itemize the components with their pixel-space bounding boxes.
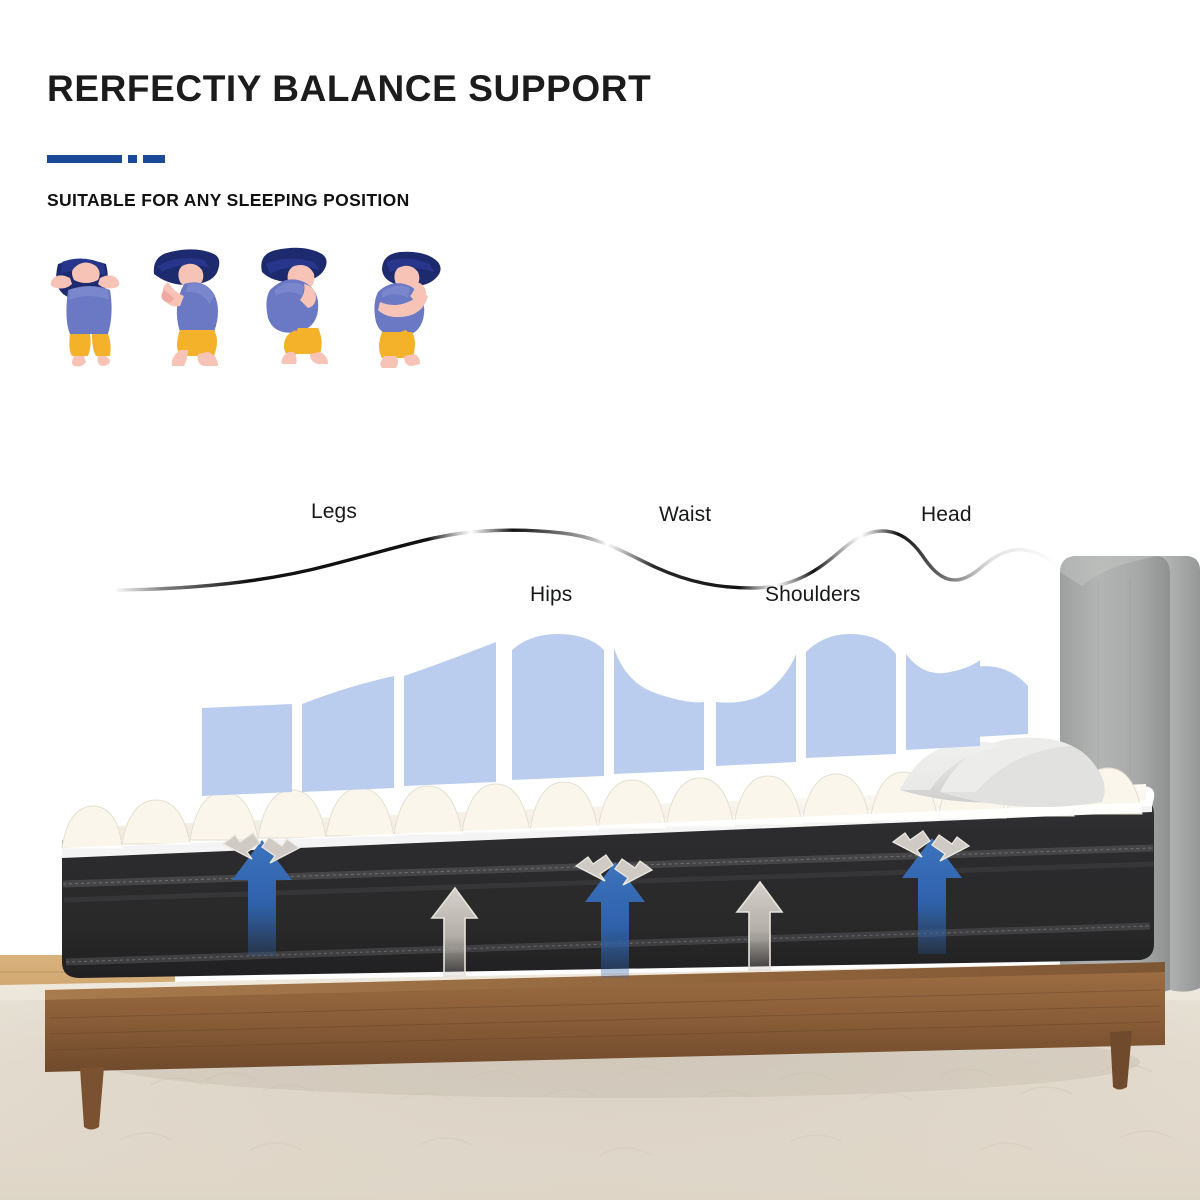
divider-segment-long xyxy=(47,155,122,163)
title-divider xyxy=(47,155,165,163)
divider-segment-short xyxy=(143,155,165,163)
sleeping-person-fetal-icon xyxy=(248,238,348,368)
body-contour-curve xyxy=(0,455,1200,625)
sleeping-positions-row xyxy=(40,238,440,368)
zone-label-legs: Legs xyxy=(311,500,357,524)
sleeping-position-1 xyxy=(40,238,140,368)
zone-label-head: Head xyxy=(921,503,972,527)
page-title: RERFECTIY BALANCE SUPPORT xyxy=(47,68,651,110)
sleeping-position-3 xyxy=(248,238,348,368)
support-zone-bars xyxy=(0,630,1200,810)
sleeping-person-side-icon xyxy=(144,238,244,368)
divider-segment-dot xyxy=(128,155,137,163)
page-subtitle: SUITABLE FOR ANY SLEEPING POSITION xyxy=(47,190,410,211)
zone-label-shoulders: Shoulders xyxy=(765,583,860,607)
zone-label-waist: Waist xyxy=(659,503,711,527)
zone-bar-group xyxy=(202,634,1028,796)
sleeping-person-back-icon xyxy=(40,238,140,368)
sleeping-position-2 xyxy=(144,238,244,368)
sleeping-position-4 xyxy=(352,238,452,368)
sleeping-person-hug-icon xyxy=(352,238,452,368)
infographic-canvas: Legs Hips Waist Shoulders Head xyxy=(0,0,1200,1200)
zone-label-hips: Hips xyxy=(530,583,572,607)
